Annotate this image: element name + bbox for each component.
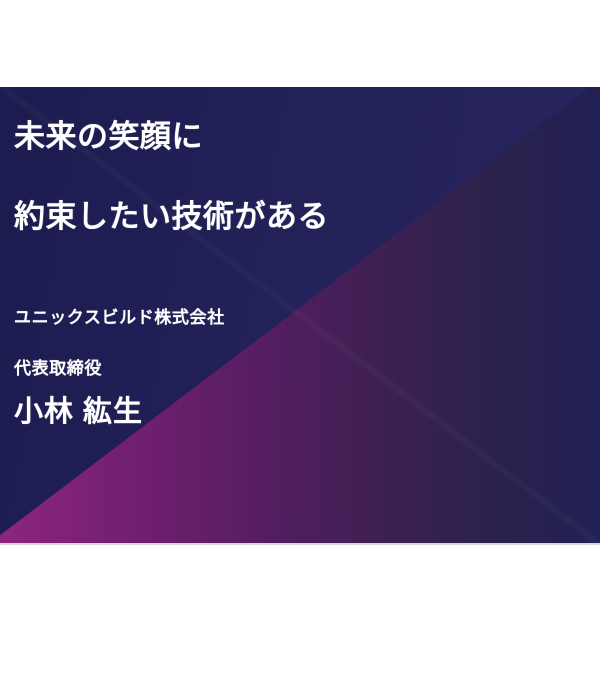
banner-bottom-rule [0, 543, 600, 545]
job-title: 代表取締役 [14, 360, 102, 377]
page-canvas: 未来の笑顔に 約束したい技術がある ユニックスビルド株式会社 代表取締役 小林 … [0, 0, 600, 693]
company-name: ユニックスビルド株式会社 [14, 309, 225, 326]
person-name: 小林 紘生 [14, 398, 143, 427]
banner-text-block: 未来の笑顔に 約束したい技術がある ユニックスビルド株式会社 代表取締役 小林 … [0, 87, 600, 543]
headline-line-2: 約束したい技術がある [14, 201, 329, 232]
headline-line-1: 未来の笑顔に [14, 121, 203, 152]
hero-banner: 未来の笑顔に 約束したい技術がある ユニックスビルド株式会社 代表取締役 小林 … [0, 87, 600, 543]
